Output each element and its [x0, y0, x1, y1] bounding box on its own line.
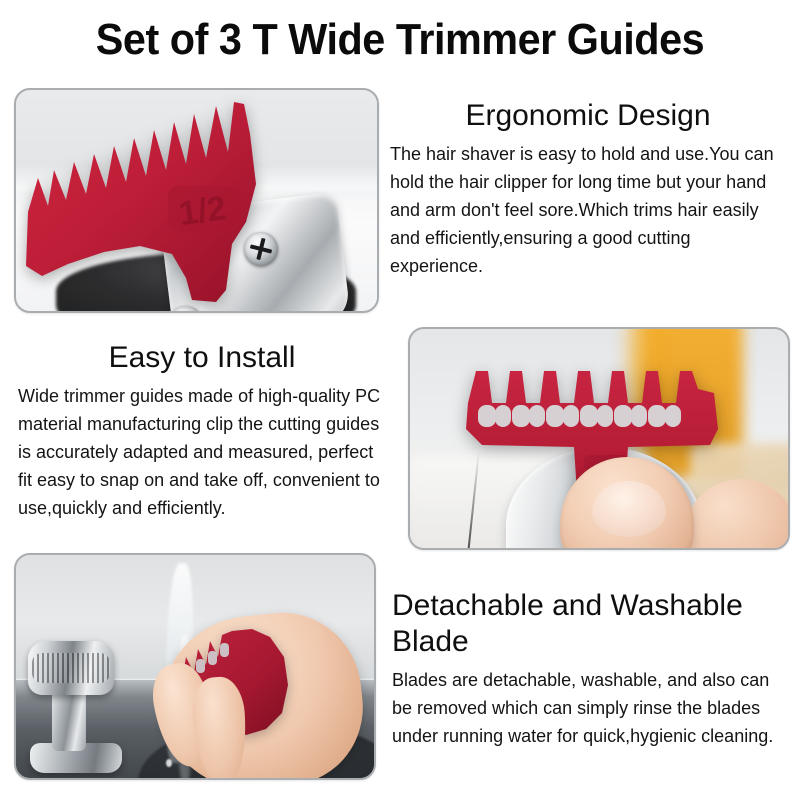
feature-block-detachable-washable-blade: Detachable and Washable Blade Blades are… — [392, 588, 788, 750]
page-title: Set of 3 T Wide Trimmer Guides — [24, 14, 776, 66]
photo-washing-guide — [14, 553, 376, 780]
feature-heading: Easy to Install — [18, 340, 386, 376]
faucet-ridges — [32, 653, 110, 683]
photo-washing-guide-scene — [16, 555, 374, 778]
feature-block-easy-to-install: Easy to Install Wide trimmer guides made… — [18, 340, 386, 522]
photo-guide-on-clipper: 1/2 — [14, 88, 379, 313]
photo-installing-guide-scene — [410, 329, 788, 548]
photo-installing-guide — [408, 327, 790, 550]
feature-body: Blades are detachable, washable, and als… — [392, 666, 788, 750]
feature-body: Wide trimmer guides made of high-quality… — [18, 382, 386, 522]
red-trimmer-guide: 1/2 — [20, 94, 296, 308]
infographic-page: Set of 3 T Wide Trimmer Guides 1/2 — [0, 0, 800, 800]
thumbnail — [592, 481, 666, 537]
guide-size-label: 1/2 — [176, 189, 228, 233]
feature-heading: Detachable and Washable Blade — [392, 588, 788, 660]
water-droplet — [166, 759, 172, 767]
feature-heading: Ergonomic Design — [390, 98, 786, 134]
feature-body: The hair shaver is easy to hold and use.… — [390, 140, 786, 280]
photo-guide-on-clipper-scene: 1/2 — [16, 90, 377, 311]
feature-block-ergonomic-design: Ergonomic Design The hair shaver is easy… — [390, 98, 786, 280]
